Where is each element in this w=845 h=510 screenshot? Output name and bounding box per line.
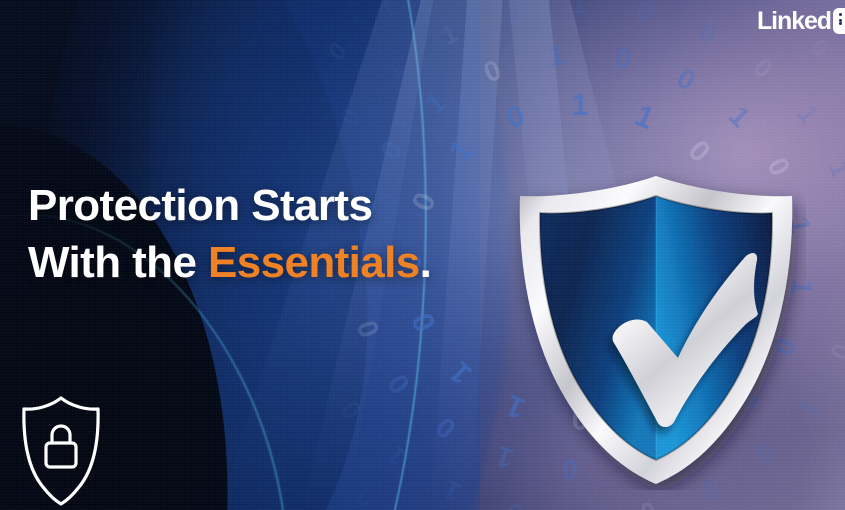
binary-digit: 0	[840, 220, 845, 239]
binary-digit: 0	[612, 42, 634, 76]
binary-digit: 1	[374, 0, 402, 26]
binary-digit: 0	[694, 16, 721, 49]
binary-digit: 0	[323, 37, 353, 66]
binary-digit: 0	[501, 0, 523, 28]
security-hero-banner: 1001011000101101001101000110101001011000…	[0, 0, 845, 510]
binary-digit: 1	[841, 283, 845, 301]
binary-digit: 1	[630, 99, 658, 136]
headline-line-1: Protection Starts	[28, 184, 431, 228]
binary-digit: 1	[823, 157, 845, 182]
binary-digit: 1	[379, 54, 410, 86]
binary-digit: 0	[502, 99, 530, 136]
binary-digit: 0	[829, 435, 845, 463]
headline-period: .	[420, 238, 432, 287]
binary-digit: 0	[351, 316, 386, 341]
binary-digit: 0	[637, 496, 659, 510]
binary-digit: 1	[303, 438, 334, 466]
binary-digit: 1	[792, 100, 825, 129]
binary-digit: 0	[351, 482, 380, 510]
shield-checkmark-icon	[506, 168, 806, 490]
binary-digit: 1	[443, 355, 478, 390]
binary-digit: 1	[436, 18, 463, 52]
binary-digit: 0	[430, 410, 462, 445]
binary-digit: 1	[571, 0, 586, 19]
headline-accent-word: Essentials	[208, 238, 420, 287]
binary-digit: 0	[335, 395, 368, 424]
binary-digit: 0	[804, 34, 834, 64]
linkedin-wordmark: Linked	[757, 8, 831, 34]
binary-digit: 0	[504, 496, 525, 510]
binary-digit: 0	[748, 52, 779, 84]
binary-digit: 1	[547, 39, 566, 72]
shield-lock-icon	[18, 392, 104, 510]
linkedin-in-icon	[833, 8, 845, 34]
binary-digit: 1	[574, 505, 589, 510]
binary-digit: 1	[439, 474, 466, 508]
binary-digit: 0	[834, 507, 845, 510]
linkedin-logo[interactable]: Linked	[757, 8, 845, 34]
binary-digit: 0	[634, 0, 655, 28]
binary-digit: 1	[304, 342, 337, 367]
binary-digit: 0	[382, 368, 417, 400]
binary-digit: 0	[479, 54, 506, 90]
binary-digit: 0	[374, 135, 409, 166]
binary-digit: 1	[722, 100, 756, 134]
headline-line-2: With the Essentials.	[28, 241, 431, 285]
binary-digit: 1	[443, 134, 478, 169]
binary-digit: 0	[682, 134, 717, 169]
binary-digit: 1	[381, 440, 412, 472]
binary-digit: 0	[671, 62, 700, 98]
headline-line-2-prefix: With the	[28, 238, 208, 287]
binary-digit: 0	[333, 102, 366, 131]
binary-digit: 1	[420, 87, 453, 122]
binary-digit: 0	[824, 340, 845, 364]
headline-block: Protection Starts With the Essentials.	[28, 184, 431, 285]
binary-digit: 0	[406, 308, 443, 336]
binary-digit: 1	[572, 89, 589, 122]
